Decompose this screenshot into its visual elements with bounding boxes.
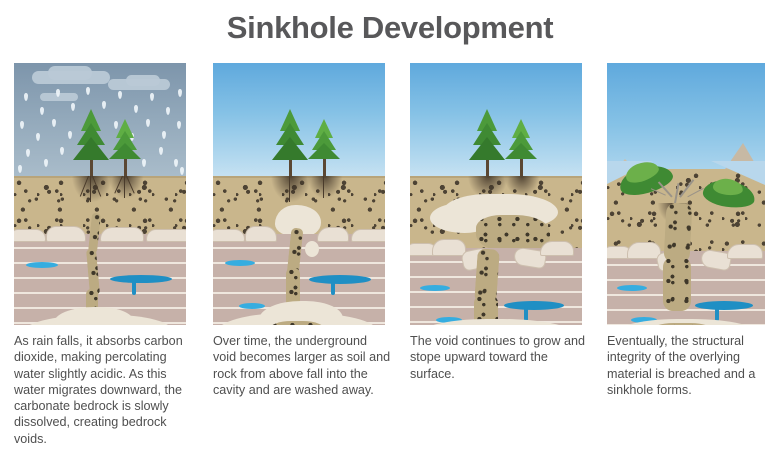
panel-row (0, 63, 780, 325)
conifer-tree (504, 119, 538, 176)
raindrop-icon (159, 147, 163, 155)
panel-stage-2 (213, 63, 385, 325)
raindrop-icon (36, 133, 40, 141)
raindrop-icon (52, 119, 56, 127)
water-pocket (26, 262, 58, 268)
bedrock-top-block (46, 226, 86, 242)
bedrock-top-block (540, 241, 574, 256)
bedrock-top-block (146, 229, 186, 242)
caption-stage-2: Over time, the underground void becomes … (213, 333, 393, 398)
cloud-icon (126, 75, 160, 86)
caption-stage-1: As rain falls, it absorbs carbon dioxide… (14, 333, 194, 447)
panel-stage-4 (607, 63, 765, 325)
raindrop-icon (174, 159, 178, 167)
conifer-tree (468, 109, 506, 176)
tree-foliage (469, 137, 505, 160)
bedrock-top-block (213, 229, 245, 242)
raindrop-icon (180, 167, 184, 175)
tree-foliage (73, 137, 109, 160)
water-pocket (504, 301, 564, 310)
conifer-tree (307, 119, 341, 176)
tree-foliage (109, 143, 141, 159)
raindrop-icon (26, 149, 30, 157)
raindrop-icon (162, 131, 166, 139)
water-pocket (617, 285, 647, 291)
bedrock-cavity (305, 241, 319, 257)
bedrock-top-block (432, 239, 466, 256)
raindrop-icon (102, 101, 106, 109)
water-pocket (309, 275, 371, 284)
root-strand (323, 176, 324, 198)
water-pocket (132, 281, 136, 295)
water-pocket (695, 301, 753, 310)
water-pocket (225, 260, 255, 266)
tree-roots (305, 176, 345, 202)
water-pocket (239, 303, 265, 309)
raindrop-icon (142, 159, 146, 167)
tree-foliage (308, 143, 340, 159)
illustration-stage-1 (14, 63, 186, 325)
root-strand (289, 176, 290, 202)
raindrop-icon (86, 87, 90, 95)
conifer-tree (271, 109, 309, 176)
bedrock-top-block (727, 244, 763, 259)
raindrop-icon (44, 159, 48, 167)
raindrop-icon (60, 147, 64, 155)
bedrock-top-block (351, 229, 385, 242)
illustration-stage-2 (213, 63, 385, 325)
water-pocket (420, 285, 450, 291)
raindrop-icon (178, 89, 182, 97)
raindrop-icon (134, 105, 138, 113)
conifer-tree (72, 109, 110, 176)
caption-stage-3: The void continues to grow and stope upw… (410, 333, 590, 382)
tree-foliage (505, 143, 537, 159)
water-pocket (331, 281, 335, 295)
bedrock-top-block (100, 227, 144, 242)
raindrop-icon (40, 107, 44, 115)
sinkhole-throat (663, 257, 691, 311)
raindrop-icon (18, 165, 22, 173)
illustration-stage-4 (607, 63, 765, 325)
raindrop-icon (146, 119, 150, 127)
panel-stage-3 (410, 63, 582, 325)
bedrock-top-block (317, 227, 349, 242)
panel-stage-1 (14, 63, 186, 325)
raindrop-icon (118, 91, 122, 99)
tree-trunk (323, 158, 326, 176)
sinkhole-throat (663, 202, 692, 263)
tree-roots (106, 176, 146, 202)
cloud-icon (48, 66, 92, 80)
illustration-stage-3 (410, 63, 582, 325)
tree-trunk (520, 158, 523, 176)
raindrop-icon (150, 93, 154, 101)
root-strand (124, 176, 125, 198)
raindrop-icon (24, 93, 28, 101)
bedrock-top-block (14, 229, 46, 242)
conifer-tree (108, 119, 142, 176)
root-strand (90, 176, 91, 202)
tree-trunk (124, 158, 127, 176)
bedrock-top-block (245, 226, 277, 242)
raindrop-icon (177, 121, 181, 129)
water-pocket (715, 307, 719, 321)
raindrop-icon (166, 107, 170, 115)
page-title: Sinkhole Development (0, 8, 780, 48)
caption-row: As rain falls, it absorbs carbon dioxide… (0, 333, 780, 453)
caption-stage-4: Eventually, the structural integrity of … (607, 333, 775, 398)
tree-foliage (272, 137, 308, 160)
water-pocket (110, 275, 172, 283)
raindrop-icon (20, 121, 24, 129)
